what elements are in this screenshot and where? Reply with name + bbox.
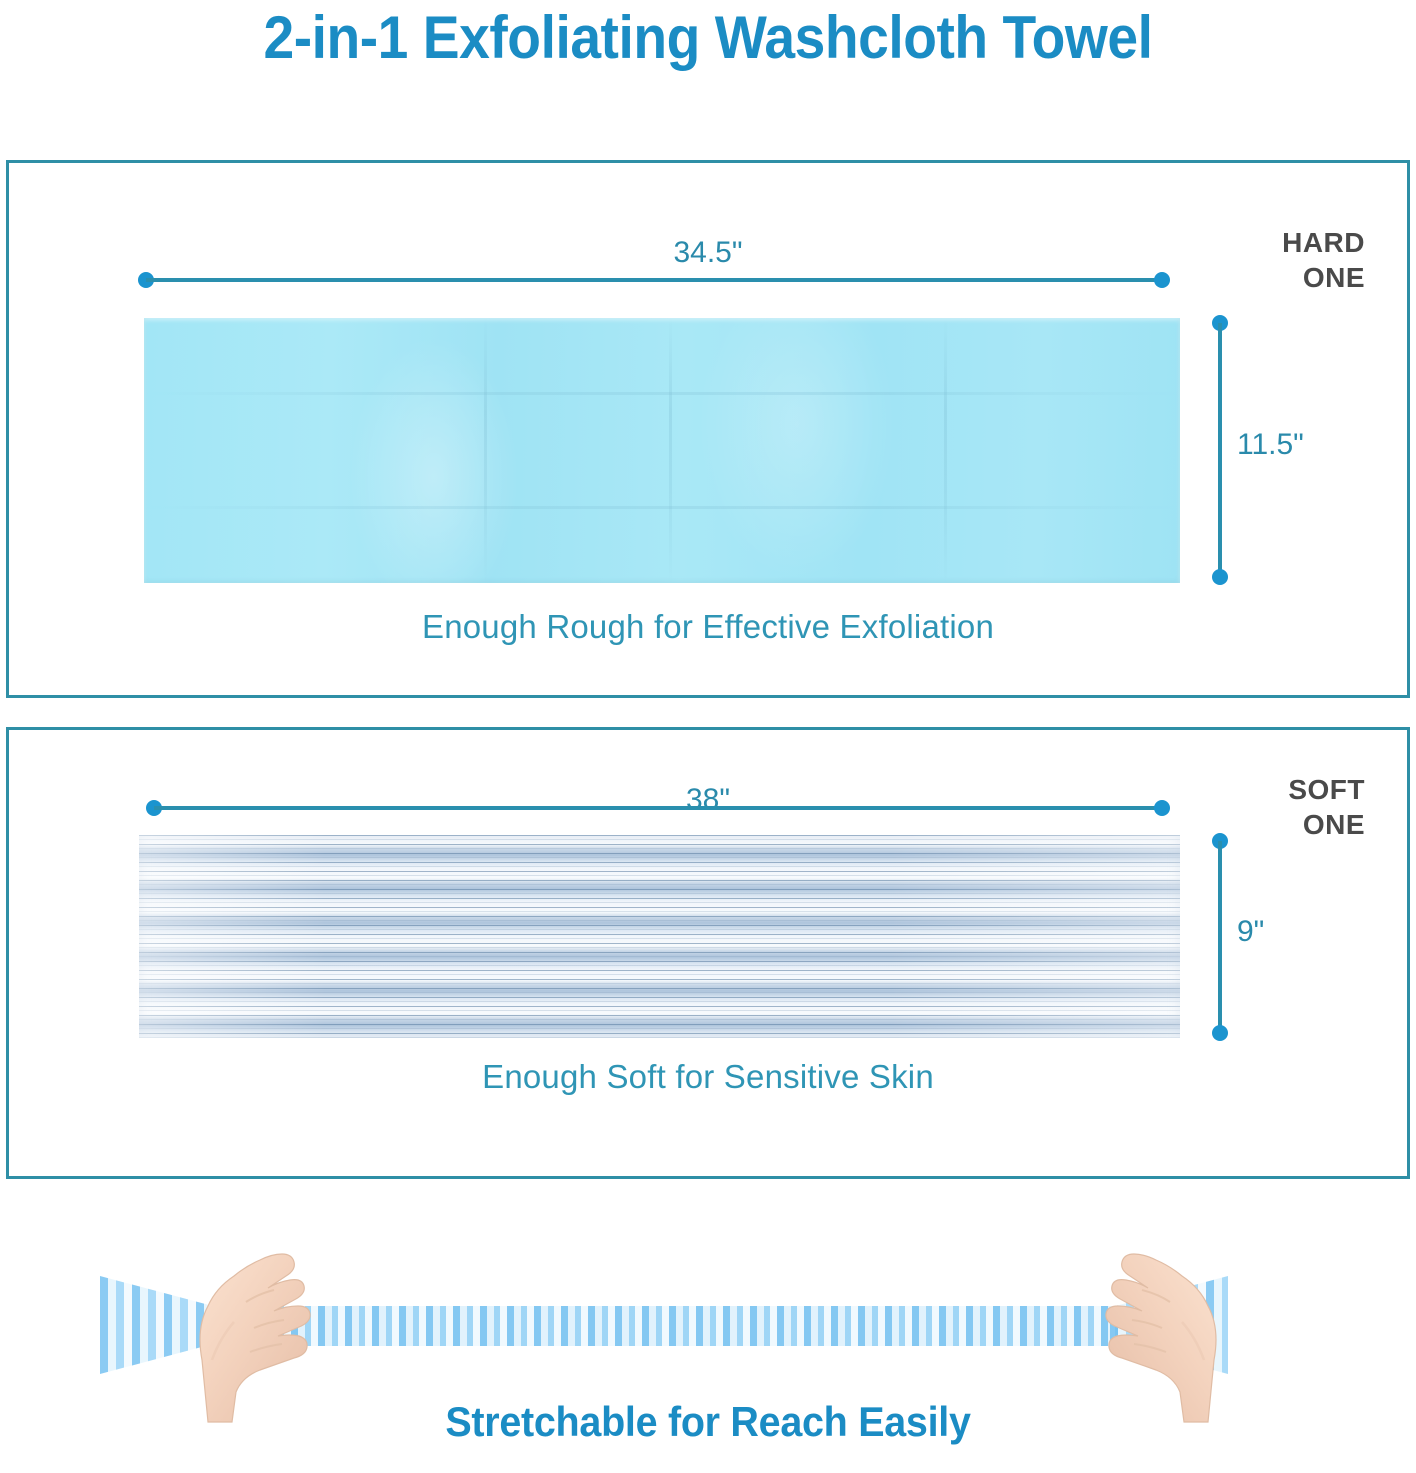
fabric-sheen — [139, 835, 1180, 1038]
soft-towel-image — [139, 835, 1180, 1038]
fabric-crease — [669, 318, 672, 583]
height-dimension-label-hard: 11.5" — [1237, 428, 1304, 462]
hand-right-icon — [1076, 1210, 1266, 1425]
panel-hard-one: HARD ONE 34.5" 11.5" Enough Rough for Ef… — [6, 160, 1410, 698]
width-dimension-line-hard — [138, 272, 1170, 288]
dimension-endpoint-dot-right — [1154, 800, 1170, 816]
dimension-bar — [146, 278, 1162, 282]
fabric-crease — [144, 392, 1180, 395]
caption-soft-one: Enough Soft for Sensitive Skin — [9, 1058, 1407, 1096]
height-dimension-label-soft: 9" — [1237, 915, 1264, 949]
towel-band-core — [210, 1306, 1118, 1346]
hand-left-icon — [150, 1210, 340, 1425]
stretch-caption: Stretchable for Reach Easily — [42, 1398, 1373, 1446]
fabric-crease — [944, 318, 947, 583]
dimension-endpoint-dot-right — [1154, 272, 1170, 288]
height-dimension-line-soft — [1212, 833, 1228, 1041]
fabric-crease — [484, 318, 487, 583]
hard-towel-image — [144, 318, 1180, 583]
dimension-bar — [1218, 841, 1222, 1033]
panel-soft-one: SOFT ONE 38" 9" Enough Soft for Sensitiv… — [6, 727, 1410, 1179]
dimension-endpoint-dot-bottom — [1212, 1025, 1228, 1041]
dimension-endpoint-dot-bottom — [1212, 569, 1228, 585]
fabric-crease — [144, 506, 1180, 509]
stretch-demo-section: Stretchable for Reach Easily — [0, 1200, 1416, 1473]
page-title: 2-in-1 Exfoliating Washcloth Towel — [57, 2, 1360, 74]
width-dimension-label-hard: 34.5" — [9, 236, 1407, 270]
dimension-bar — [154, 806, 1162, 810]
caption-hard-one: Enough Rough for Effective Exfoliation — [9, 608, 1407, 646]
height-dimension-line-hard — [1212, 315, 1228, 585]
width-dimension-line-soft — [146, 800, 1170, 816]
dimension-bar — [1218, 323, 1222, 577]
